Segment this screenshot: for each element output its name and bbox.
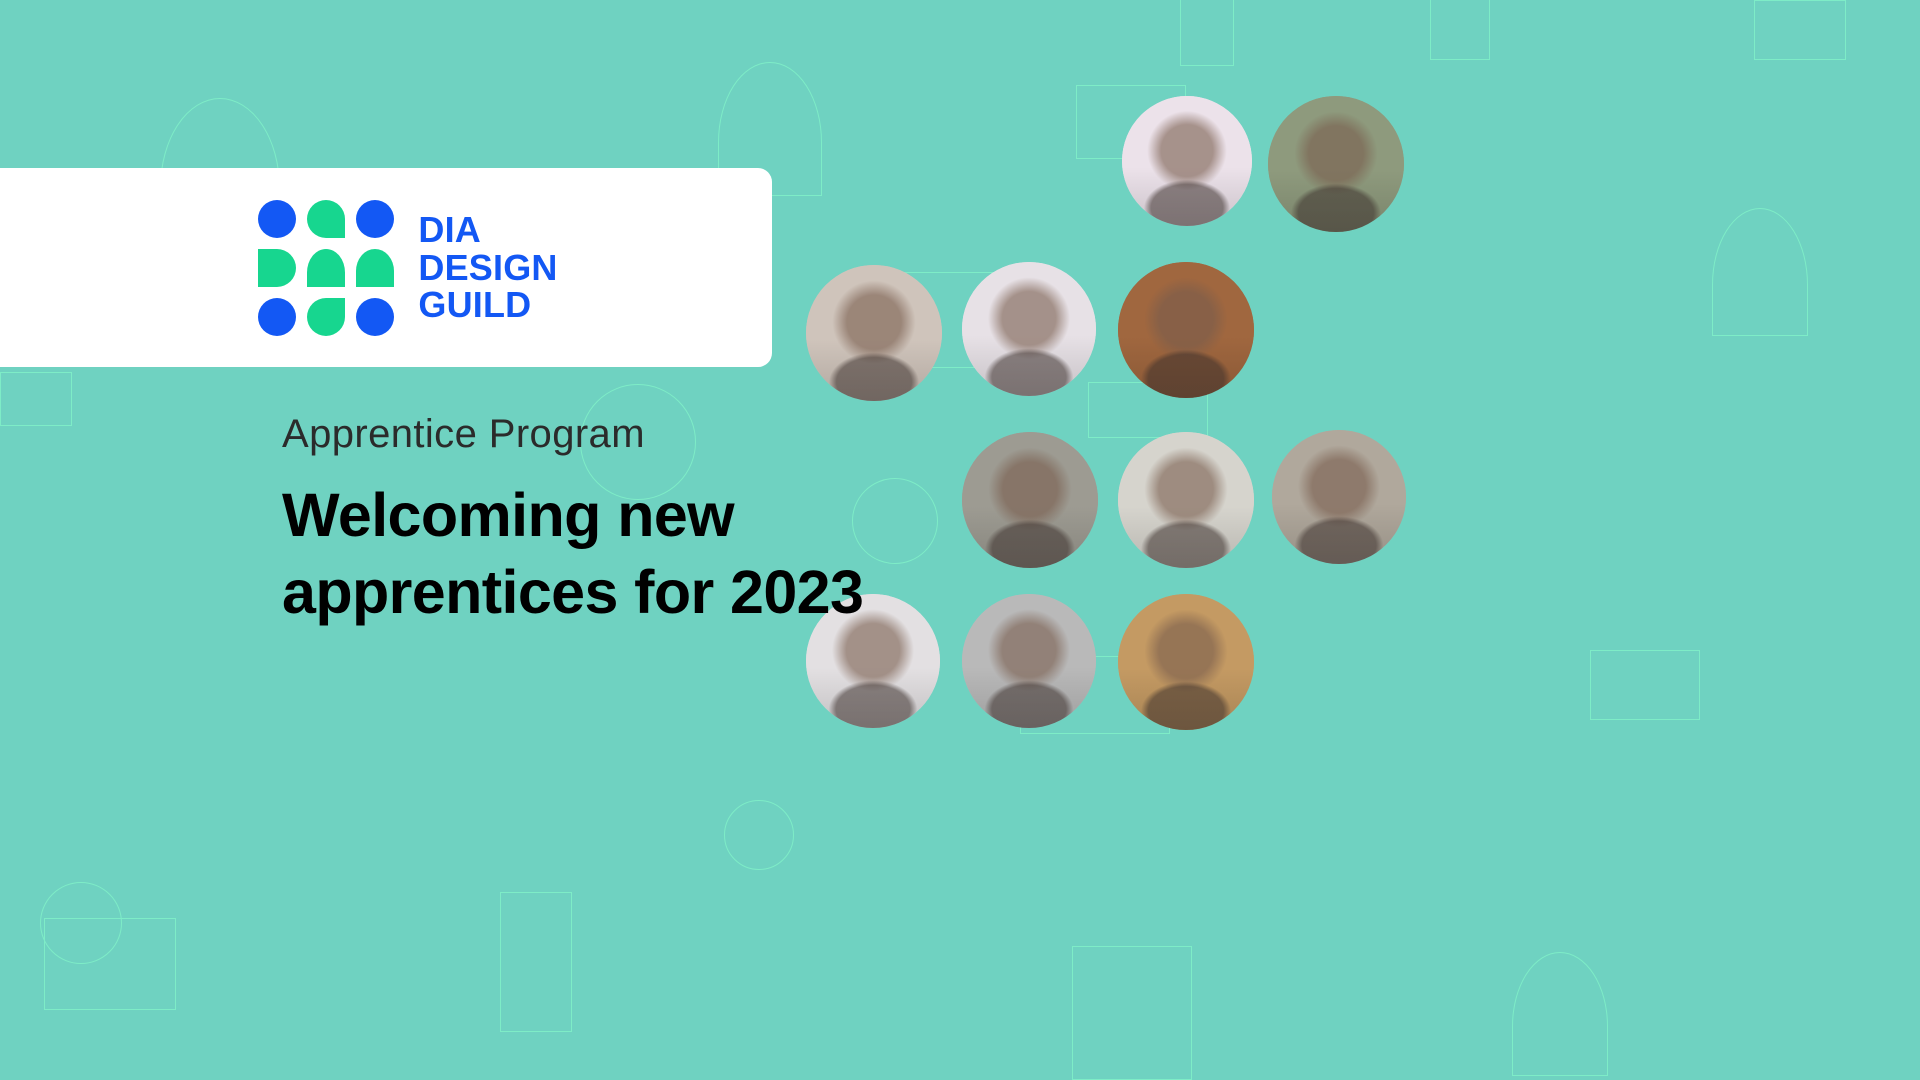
apprentice-photo-1 <box>1122 96 1252 226</box>
logo-dot-7-icon <box>258 298 296 336</box>
program-eyebrow: Apprentice Program <box>282 412 902 457</box>
page-title: Welcoming new apprentices for 2023 <box>282 477 902 632</box>
logo-card: DIA DESIGN GUILD <box>0 168 772 367</box>
logo-lockup: DIA DESIGN GUILD <box>258 200 557 336</box>
logo-dot-2-icon <box>307 200 345 238</box>
apprentice-photo-10 <box>962 594 1096 728</box>
apprentice-photo-8 <box>1272 430 1406 564</box>
apprentice-photo-3 <box>806 265 942 401</box>
apprentice-photo-4 <box>962 262 1096 396</box>
dia-wordmark: DIA DESIGN GUILD <box>418 211 557 323</box>
photo-person-suit-and-tie-stone-wall <box>1272 430 1406 564</box>
apprentice-photo-2 <box>1268 96 1404 232</box>
photo-person-plaid-shirt-grey-background <box>962 594 1096 728</box>
photo-person-bangs-hand-on-chin-patterned-backdrop <box>1118 432 1254 568</box>
logo-dot-5-icon <box>307 249 345 287</box>
logo-dot-4-icon <box>258 249 296 287</box>
photo-person-long-dark-hair-light-background <box>962 262 1096 396</box>
apprentice-photo-7 <box>1118 432 1254 568</box>
apprentice-photo-5 <box>1118 262 1254 398</box>
logo-dot-3-icon <box>356 200 394 238</box>
copy-block: Apprentice Program Welcoming new apprent… <box>282 412 902 632</box>
wordmark-line-2: DESIGN <box>418 249 557 286</box>
photo-person-glasses-long-hair-outdoors <box>1268 96 1404 232</box>
photo-person-pink-shirt-gallery-background <box>806 265 942 401</box>
dia-logo-mark-icon <box>258 200 394 336</box>
photo-person-curly-dark-hair-black-top <box>1122 96 1252 226</box>
logo-dot-9-icon <box>356 298 394 336</box>
banner-canvas: DIA DESIGN GUILD Apprentice Program Welc… <box>0 0 1920 1080</box>
wordmark-line-3: GUILD <box>418 286 557 323</box>
photo-person-curly-hair-smiling-street <box>962 432 1098 568</box>
photo-person-glasses-green-top-wood-background <box>1118 262 1254 398</box>
apprentice-photo-11 <box>1118 594 1254 730</box>
apprentice-photo-6 <box>962 432 1098 568</box>
logo-dot-8-icon <box>307 298 345 336</box>
logo-dot-1-icon <box>258 200 296 238</box>
wordmark-line-1: DIA <box>418 211 557 248</box>
photo-orange-tabby-cat <box>1118 594 1254 730</box>
logo-dot-6-icon <box>356 249 394 287</box>
